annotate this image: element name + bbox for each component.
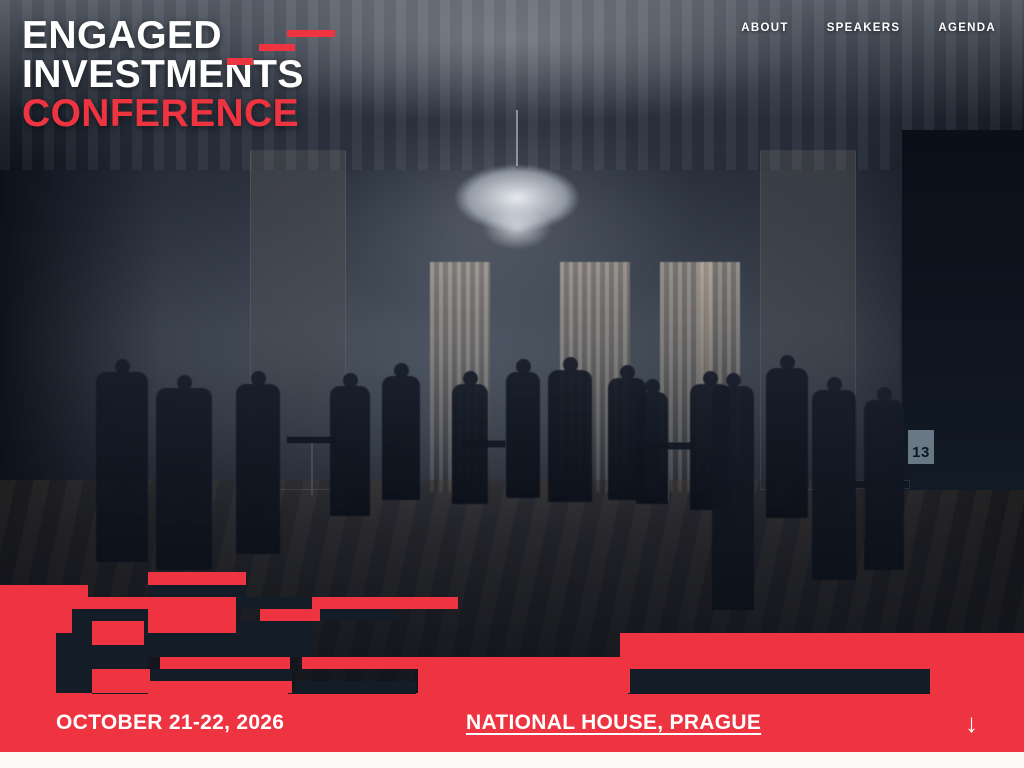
down-arrow-icon[interactable]: ↓ (965, 710, 978, 736)
attendee-silhouette (452, 384, 488, 504)
attendee-silhouette (330, 386, 370, 516)
event-date: OCTOBER 21-22, 2026 (56, 711, 284, 735)
attendee-silhouette (96, 372, 148, 562)
attendee-silhouette (636, 392, 668, 504)
site-logo[interactable]: ENGAGED INVESTMENTS CONFERENCE (22, 16, 304, 133)
attendee-silhouette (506, 372, 540, 498)
page-footer-strip (0, 752, 1024, 768)
nav-item-agenda[interactable]: AGENDA (938, 22, 996, 34)
attendee-silhouette (766, 368, 808, 518)
nav-item-speakers[interactable]: SPEAKERS (827, 22, 901, 34)
attendee-silhouette (236, 384, 280, 554)
logo-line-3: CONFERENCE (22, 94, 304, 133)
hero-section: 13 ENGAGED INVESTMENTS CONFERENCE ABOUT … (0, 0, 1024, 768)
logo-dash-marks-icon (227, 30, 337, 76)
table-number-sign: 13 (908, 430, 934, 464)
chandelier-icon (432, 150, 602, 265)
main-navigation[interactable]: ABOUT SPEAKERS AGENDA (741, 22, 996, 34)
hero-info-bar: OCTOBER 21-22, 2026 NATIONAL HOUSE, PRAG… (0, 694, 1024, 752)
attendee-silhouette (812, 390, 856, 580)
glitch-bar-graphic (0, 565, 1024, 702)
event-venue-link[interactable]: NATIONAL HOUSE, PRAGUE (466, 711, 761, 735)
attendee-silhouette (548, 370, 592, 502)
attendee-silhouette (382, 376, 420, 500)
attendee-silhouette (156, 388, 212, 570)
attendee-silhouette (864, 400, 904, 570)
nav-item-about[interactable]: ABOUT (741, 22, 788, 34)
